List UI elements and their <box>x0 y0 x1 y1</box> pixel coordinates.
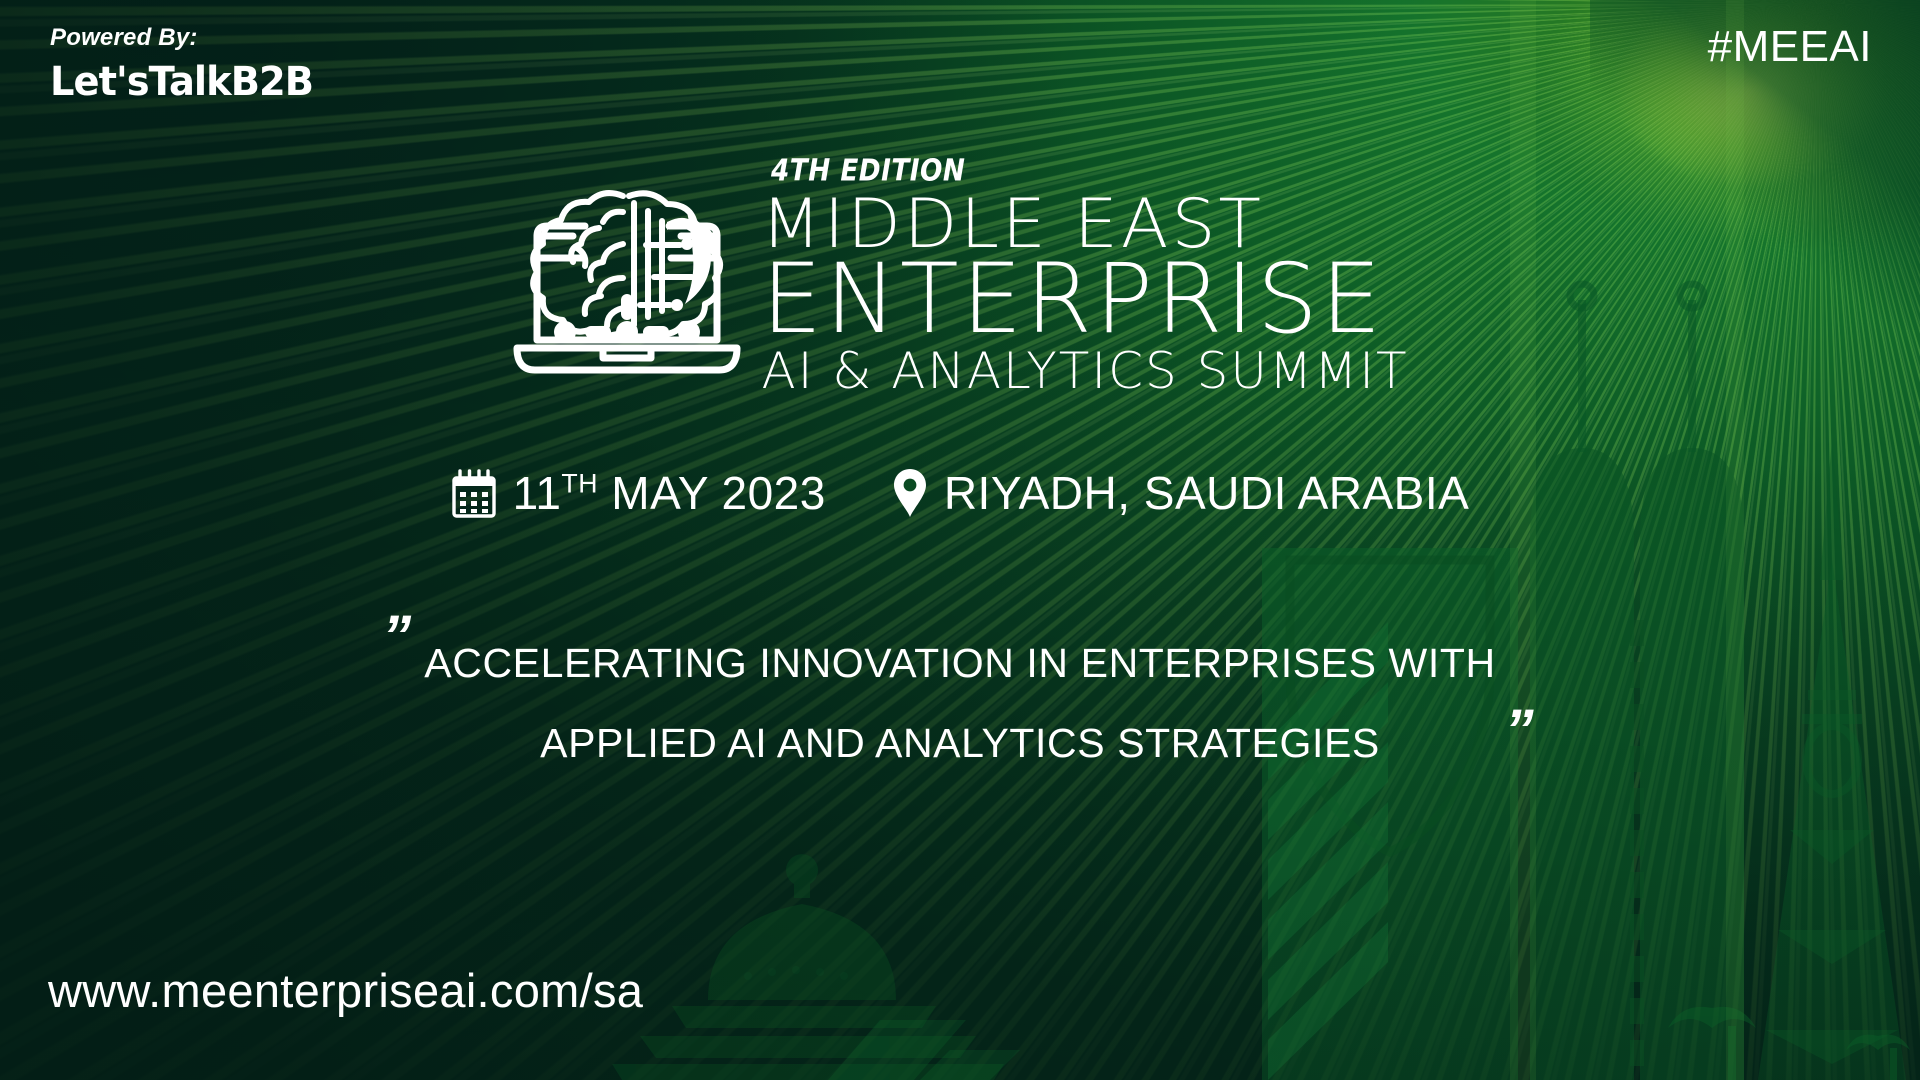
event-wordmark: 4TH EDITION MIDDLE EAST ENTERPRISE AI & … <box>761 158 1408 395</box>
powered-by-label: Powered By: <box>50 26 324 50</box>
poster-canvas: Powered By: Let'sTalkB2B #MEEAI <box>0 0 1920 1080</box>
logo-line-enterprise: ENTERPRISE <box>761 253 1408 345</box>
letstalkb2b-logo: Let'sTalkB2B <box>50 62 313 102</box>
quote-open-mark: ” <box>382 608 411 666</box>
edition-label: 4TH EDITION <box>771 156 1370 186</box>
date-rest: MAY 2023 <box>598 467 826 519</box>
event-venue-text: RIYADH, SAUDI ARABIA <box>944 466 1470 520</box>
date-ordinal: TH <box>561 469 598 499</box>
poster-content: Powered By: Let'sTalkB2B #MEEAI <box>0 0 1920 1080</box>
logo-line-middle-east: MIDDLE EAST <box>761 192 1421 257</box>
logo-line-summit: AI & ANALYTICS SUMMIT <box>761 347 1408 395</box>
location-pin-icon <box>892 467 928 519</box>
website-url[interactable]: www.meenterpriseai.com/sa <box>48 963 643 1018</box>
calendar-icon <box>451 467 497 519</box>
date-day: 11 <box>513 467 562 519</box>
event-logo-lockup: 4TH EDITION MIDDLE EAST ENTERPRISE AI & … <box>0 158 1920 395</box>
event-venue: RIYADH, SAUDI ARABIA <box>892 466 1470 520</box>
quote-close-mark: ” <box>1505 702 1534 760</box>
powered-by-block: Powered By: Let'sTalkB2B <box>50 26 324 102</box>
event-hashtag: #MEEAI <box>1708 22 1872 72</box>
event-meta-row: 11TH MAY 2023 RIYADH, SAUDI ARABIA <box>0 466 1920 520</box>
event-date-text: 11TH MAY 2023 <box>513 466 826 520</box>
tagline-line-1: ACCELERATING INNOVATION IN ENTERPRISES W… <box>424 624 1495 704</box>
event-date: 11TH MAY 2023 <box>451 466 826 520</box>
tagline-line-2: APPLIED AI AND ANALYTICS STRATEGIES <box>424 704 1495 784</box>
brain-laptop-icon <box>511 182 743 392</box>
event-tagline: ” ACCELERATING INNOVATION IN ENTERPRISES… <box>0 624 1920 784</box>
